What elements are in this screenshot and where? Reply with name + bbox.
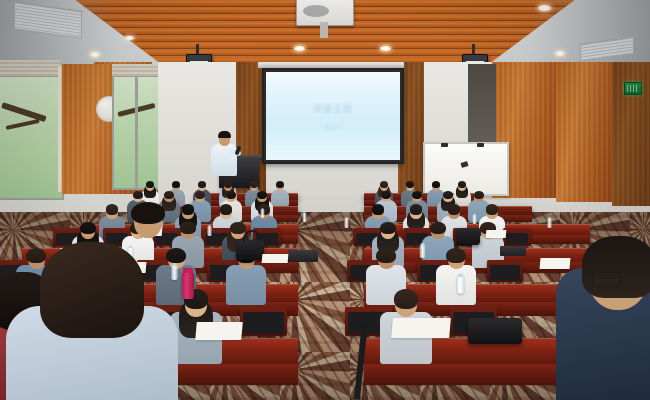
handbag xyxy=(236,240,264,260)
attendee-hair xyxy=(230,222,245,234)
window-left-back xyxy=(112,70,162,190)
attendee-torso xyxy=(271,189,289,207)
attendee-hair xyxy=(133,191,143,199)
water-bottle xyxy=(303,213,307,222)
attendee-hair xyxy=(381,191,391,199)
downlight xyxy=(538,5,551,11)
paper-sheet xyxy=(262,254,289,263)
attendee-hair xyxy=(182,204,195,214)
laptop xyxy=(500,246,526,256)
paper-sheet xyxy=(486,230,507,238)
downlight xyxy=(125,36,134,40)
attendee-hair xyxy=(172,181,181,188)
attendee-hair xyxy=(250,181,259,188)
attendee-hair xyxy=(257,191,267,199)
window-left-outer xyxy=(0,66,64,200)
attendee-hair xyxy=(26,248,45,263)
paper-sheet xyxy=(195,322,243,340)
presenter-hair xyxy=(218,131,231,138)
paper-sheet xyxy=(540,258,571,269)
slide-title: 讲座主题 xyxy=(266,102,400,115)
attendee-hair xyxy=(220,204,233,214)
whiteboard-marker xyxy=(460,161,468,168)
projector-mount xyxy=(320,22,328,38)
ceiling-slat xyxy=(45,51,605,55)
projection-screen: 讲座主题 演讲人 xyxy=(262,68,404,164)
lecture-hall-photo: 讲座主题 演讲人 清华大学 Tsinghua University 新闻 NEW… xyxy=(0,0,650,400)
attendee-hair xyxy=(486,204,499,214)
attendee-hair xyxy=(380,181,389,188)
attendee-hair xyxy=(380,222,395,234)
whiteboard-clip xyxy=(477,143,484,147)
slide-subtitle: 演讲人 xyxy=(266,123,400,132)
handbag-handle xyxy=(243,230,261,242)
eyeglasses xyxy=(592,272,620,287)
window-blind-left xyxy=(0,60,60,77)
window-blind-left-back xyxy=(112,64,158,77)
attendee-hair xyxy=(474,191,484,199)
attendee-hair xyxy=(376,248,395,263)
attendee-hair xyxy=(443,191,453,199)
foliage-view xyxy=(0,68,62,198)
water-bottle xyxy=(457,275,465,294)
attendee-hair xyxy=(448,204,461,214)
attendee-hair xyxy=(164,191,174,199)
attendee-hair xyxy=(80,222,95,234)
attendee-hair xyxy=(276,181,285,188)
downlight xyxy=(294,46,305,51)
downlight xyxy=(90,52,100,57)
water-bottle xyxy=(207,226,211,236)
foreground-attendee-hair-right xyxy=(582,236,650,298)
chair-seat xyxy=(490,265,520,280)
attendee-hair xyxy=(406,181,415,188)
handbag xyxy=(456,228,480,245)
water-bottle xyxy=(420,244,426,258)
water-bottle xyxy=(261,209,265,218)
attendee-hair xyxy=(372,204,385,214)
bag xyxy=(468,318,522,344)
window-mullion xyxy=(135,72,138,188)
attendee-hair xyxy=(146,181,155,188)
laptop xyxy=(288,250,318,262)
downlight xyxy=(555,51,565,56)
wall-panel-right-b xyxy=(556,62,614,202)
attendee-hair xyxy=(195,191,205,199)
attendee-hair xyxy=(430,222,445,234)
attendee-hair xyxy=(446,248,465,263)
attendee-torso xyxy=(226,265,266,305)
exit-sign xyxy=(624,82,642,95)
ceiling-slat xyxy=(45,44,605,48)
downlight xyxy=(380,46,391,51)
attendee-hair xyxy=(410,204,423,214)
attendee-hair xyxy=(106,204,119,214)
chair-seat xyxy=(243,312,284,334)
attendee-hair xyxy=(412,191,422,199)
screen-surface: 讲座主题 演讲人 xyxy=(266,72,400,160)
attendee-hair xyxy=(226,191,236,199)
chair-seat xyxy=(506,233,529,244)
water-bottle xyxy=(547,218,551,228)
water-bottle xyxy=(344,218,348,228)
attendee-hair xyxy=(458,181,467,188)
whiteboard-clip xyxy=(441,143,448,147)
attendee-hair xyxy=(432,181,441,188)
attendee-hair-plaid xyxy=(131,202,165,224)
attendee-hair xyxy=(198,181,207,188)
attendee-hair xyxy=(224,181,233,188)
water-bottle xyxy=(473,215,477,224)
paper-sheet xyxy=(391,318,451,338)
foreground-attendee-hair-left xyxy=(40,242,144,338)
attendee-hair xyxy=(394,289,419,309)
